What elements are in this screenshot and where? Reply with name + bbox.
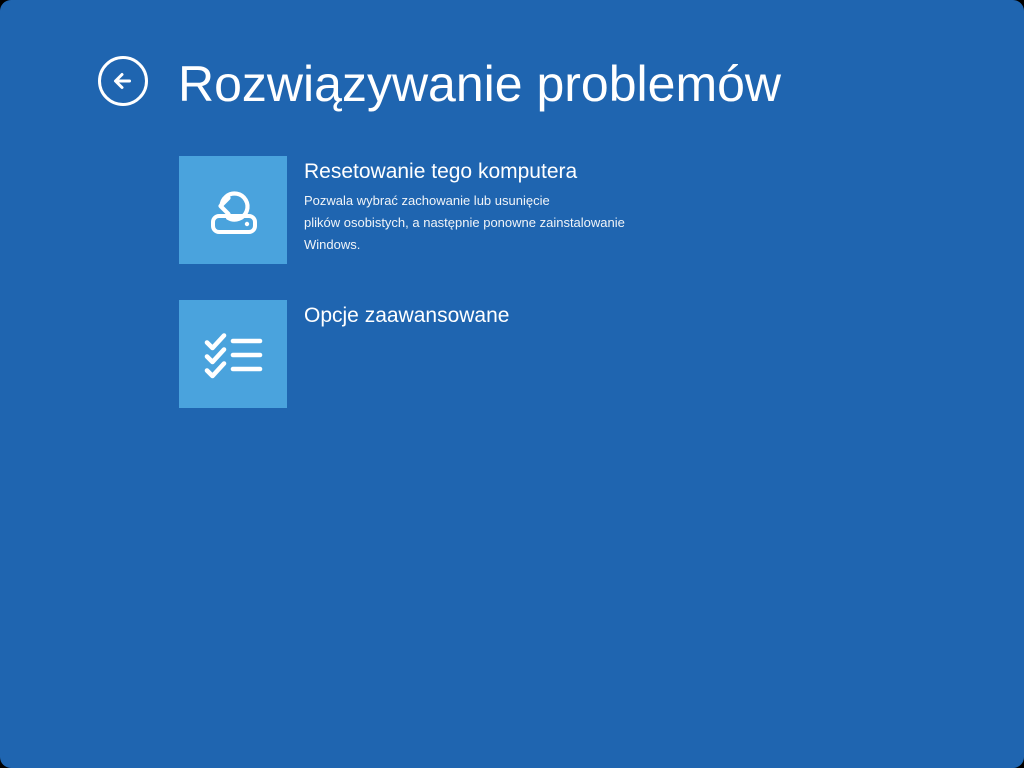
header: Rozwiązywanie problemów: [0, 0, 1024, 140]
option-title: Resetowanie tego komputera: [304, 158, 625, 186]
back-button[interactable]: [96, 54, 150, 108]
option-text: Resetowanie tego komputera Pozwala wybra…: [304, 156, 625, 256]
advanced-options-checklist-icon: [197, 318, 269, 390]
reset-pc-drive-icon: [197, 174, 269, 246]
option-tile: [179, 156, 287, 264]
recovery-environment-screen: Rozwiązywanie problemów Resetowanie: [0, 0, 1024, 768]
circle-back-arrow-icon: [96, 54, 150, 108]
option-description-line: Pozwala wybrać zachowanie lub usunięcie: [304, 190, 625, 212]
option-title: Opcje zaawansowane: [304, 302, 509, 330]
options-list: Resetowanie tego komputera Pozwala wybra…: [179, 156, 879, 444]
option-tile: [179, 300, 287, 408]
option-description: Pozwala wybrać zachowanie lub usunięcie …: [304, 190, 625, 256]
option-advanced-options[interactable]: Opcje zaawansowane: [179, 300, 879, 408]
option-text: Opcje zaawansowane: [304, 300, 509, 330]
option-description-line: plików osobistych, a następnie ponowne z…: [304, 212, 625, 234]
option-description-line: Windows.: [304, 234, 625, 256]
page-title: Rozwiązywanie problemów: [178, 50, 781, 118]
option-reset-this-pc[interactable]: Resetowanie tego komputera Pozwala wybra…: [179, 156, 879, 264]
